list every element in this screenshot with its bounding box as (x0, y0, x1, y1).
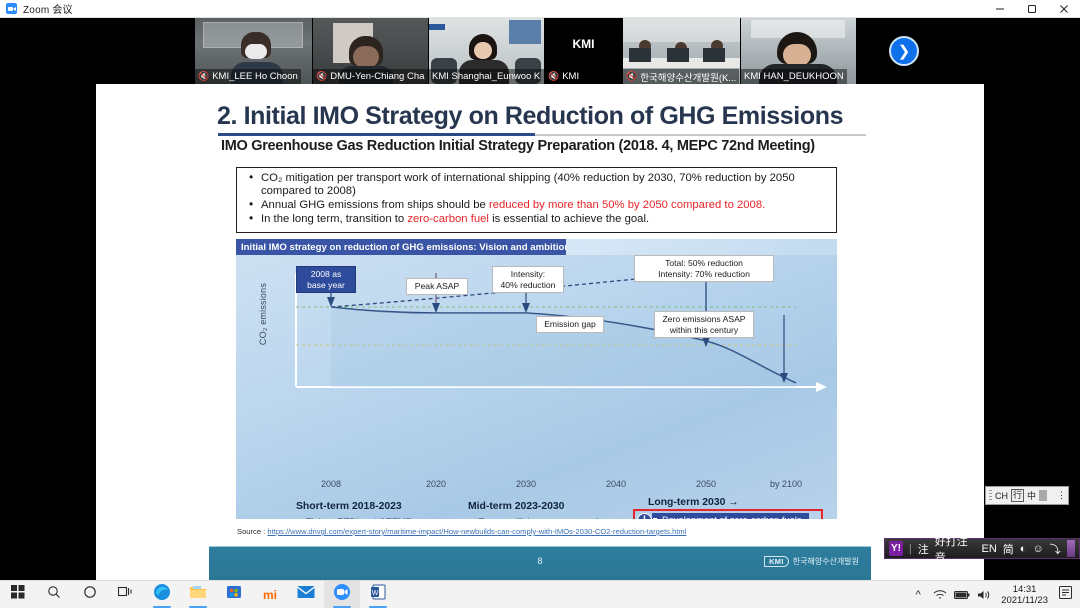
zoom-button[interactable] (324, 581, 360, 608)
wifi-icon[interactable] (929, 581, 951, 608)
participant-thumbnail[interactable]: KMI 🔇 KMI (545, 18, 622, 84)
edge-button[interactable] (144, 581, 180, 608)
mail-icon (297, 585, 315, 604)
window-title: Zoom 会议 (23, 1, 73, 16)
callout-peak-asap: Peak ASAP (406, 278, 468, 295)
participant-name-bar: 🔇 DMU-Yen-Chiang Cha... (313, 69, 428, 84)
participant-name-bar: KMI Shanghai_Eunwoo Kim (429, 69, 544, 84)
diagram-header: Initial IMO strategy on reduction of GHG… (236, 239, 566, 255)
bullet-text: is essential to achieve the goal. (489, 213, 649, 225)
ime-drag-handle[interactable] (989, 490, 992, 501)
x-tick-label: 2030 (516, 479, 536, 489)
title-divider-accent (218, 133, 535, 136)
edge-icon (153, 583, 171, 606)
zoom-icon (333, 583, 351, 606)
zoom-camera-icon (6, 3, 17, 14)
word-icon: W (370, 584, 386, 605)
yahoo-ime-toolbar[interactable]: Y! | 注 好打注音 EN 简 ◐ ☺ ⤵ (884, 538, 1080, 559)
column-item-highlighted: Development of zero-carbon fuels (652, 513, 809, 519)
file-explorer-button[interactable] (180, 581, 216, 608)
yahoo-logo-icon[interactable]: Y! (889, 541, 903, 556)
ghg-strategy-diagram: Initial IMO strategy on reduction of GHG… (236, 239, 837, 519)
notification-icon (1059, 586, 1072, 604)
mi-app-button[interactable]: mi (252, 581, 288, 608)
participant-name: KMI Shanghai_Eunwoo Kim (432, 71, 541, 82)
participant-thumbnail[interactable]: KMI HAN_DEUKHOON (741, 18, 856, 84)
ime-more-button[interactable]: ⋮ (1057, 490, 1065, 501)
participant-thumbnail[interactable]: 🔇 DMU-Yen-Chiang Cha... (313, 18, 428, 84)
item-text: Energy-efficiency measures for new and e… (478, 517, 641, 519)
ime-english-toggle[interactable]: EN (982, 543, 997, 555)
word-button[interactable]: W (360, 581, 396, 608)
mail-button[interactable] (288, 581, 324, 608)
ime-expand-icon[interactable]: ⤵ (1050, 541, 1061, 557)
column-heading: Short-term 2018-2023 (296, 501, 466, 513)
next-participants-button[interactable]: ❯ (889, 36, 919, 66)
callout-line: Total: 50% reduction Intensity: 70% redu… (658, 258, 750, 279)
svg-text:W: W (372, 590, 379, 597)
chevron-right-icon: ❯ (898, 42, 911, 60)
chart-x-tick-labels: 2008 2020 2030 2040 2050 by 2100 (236, 479, 837, 493)
x-axis-arrow (816, 382, 827, 392)
callout-intensity: Intensity: 40% reduction (492, 266, 564, 293)
ime-resize-handle[interactable] (1067, 540, 1075, 557)
bullet-text-emphasis: zero-carbon fuel (407, 213, 489, 225)
start-button[interactable] (0, 581, 36, 608)
column-heading: Long-term 2030 → (648, 497, 826, 509)
muted-mic-icon: 🔇 (548, 72, 559, 81)
x-tick-label: 2040 (606, 479, 626, 489)
windows-taskbar: mi W ^ 14:31 2021/11/23 (0, 580, 1080, 608)
callout-line: 2008 as base year (307, 269, 345, 290)
ime-panel-icon[interactable] (1039, 490, 1047, 501)
clock-date: 2021/11/23 (1001, 595, 1048, 606)
callout-base-year: 2008 as base year (296, 266, 356, 293)
windows-icon (11, 585, 25, 604)
muted-mic-icon: 🔇 (316, 72, 327, 81)
taskbar-clock[interactable]: 14:31 2021/11/23 (995, 584, 1054, 606)
ime-status-toolbar[interactable]: CH 行 中 ⋮ (985, 486, 1069, 505)
minimize-button[interactable] (984, 0, 1016, 18)
ime-language-indicator[interactable]: CH (995, 491, 1008, 501)
cortana-button[interactable] (72, 581, 108, 608)
x-tick-label: by 2100 (770, 479, 802, 489)
source-link[interactable]: https://www.dnvgl.com/expert-story/marit… (267, 527, 686, 536)
slide-footer: 8 KMI 한국해양수산개발원 (209, 546, 871, 580)
presentation-slide: 2. Initial IMO Strategy on Reduction of … (209, 84, 871, 580)
bullet-text-emphasis: reduced by more than 50% by 2050 compare… (489, 199, 765, 211)
callout-emission-gap: Emission gap (536, 316, 604, 333)
kmi-logo: KMI 한국해양수산개발원 (764, 556, 859, 567)
kmi-logo-mark: KMI (764, 556, 789, 567)
kmi-org-name: 한국해양수산개발원 (793, 556, 859, 567)
mid-term-column: Mid-term 2023-2030 Energy-efficiency mea… (468, 501, 643, 519)
participant-name: KMI (562, 71, 579, 82)
key-points-box: CO₂ mitigation per transport work of int… (236, 167, 837, 233)
ime-input-mode[interactable]: 注 (918, 541, 929, 557)
task-view-icon (118, 585, 134, 604)
clock-time: 14:31 (1001, 584, 1048, 595)
item-text: Development of zero-carbon fuels (662, 515, 802, 519)
source-line: Source : https://www.dnvgl.com/expert-st… (237, 527, 686, 536)
participant-thumbnail[interactable]: 🔇 KMI_LEE Ho Choon (195, 18, 312, 84)
column-item: Tighter EEDI and SEEMP (296, 516, 466, 519)
maximize-button[interactable] (1016, 0, 1048, 18)
x-tick-label: 2050 (696, 479, 716, 489)
participant-thumbnail[interactable]: KMI Shanghai_Eunwoo Kim (429, 18, 544, 84)
bullet-text: CO₂ mitigation per transport work of int… (261, 172, 795, 197)
participant-initials: KMI (545, 18, 622, 70)
task-view-button[interactable] (108, 581, 144, 608)
diagram-header-filler (566, 239, 837, 255)
close-button[interactable] (1048, 0, 1080, 18)
search-icon (47, 585, 61, 604)
chevron-up-icon[interactable]: ^ (907, 581, 929, 608)
callout-total-reduction: Total: 50% reduction Intensity: 70% redu… (634, 255, 774, 282)
notification-center-button[interactable] (1054, 581, 1076, 608)
participant-name-bar: 🔇 KMI_LEE Ho Choon (195, 69, 301, 84)
key-points-list: CO₂ mitigation per transport work of int… (245, 172, 830, 227)
volume-icon[interactable] (973, 581, 995, 608)
participant-name-bar: 🔇 한국해양수산개발원(K... (623, 69, 739, 84)
ime-halfwidth-icon[interactable]: ◐ (1020, 543, 1027, 555)
battery-icon[interactable] (951, 581, 973, 608)
slide-page-number: 8 (537, 556, 542, 566)
bullet-text: Annual GHG emissions from ships should b… (261, 199, 489, 211)
participant-name-bar: 🔇 KMI (545, 69, 582, 84)
window-controls (984, 0, 1080, 18)
ime-simplified-toggle[interactable]: 简 (1003, 541, 1014, 557)
ime-scheme-name[interactable]: 好打注音 (935, 533, 976, 565)
participant-name: KMI HAN_DEUKHOON (744, 71, 844, 82)
slide-subtitle: IMO Greenhouse Gas Reduction Initial Str… (221, 138, 861, 154)
callout-line: Emission gap (544, 319, 596, 329)
ime-settings-icon[interactable]: ☺ (1032, 543, 1043, 555)
ime-charset-button[interactable]: 中 (1027, 489, 1036, 502)
long-term-column: Long-term 2030 → ! Development of zero-c… (648, 497, 826, 519)
callout-line: Peak ASAP (415, 281, 459, 291)
item-text: Tighter EEDI and SEEMP (306, 517, 412, 519)
callout-line: Zero emissions ASAP within this century (662, 314, 745, 335)
callout-zero-emissions: Zero emissions ASAP within this century (654, 311, 754, 338)
folder-icon (189, 584, 207, 605)
x-tick-label: 2020 (426, 479, 446, 489)
column-item: Energy-efficiency measures for new and e… (468, 516, 643, 519)
column-heading: Mid-term 2023-2030 (468, 501, 643, 513)
leader-2008-arrow (327, 297, 335, 307)
leader-intensity-arrow (522, 303, 530, 313)
system-tray: ^ 14:31 2021/11/23 (907, 581, 1080, 608)
participant-name-bar: KMI HAN_DEUKHOON (741, 69, 847, 84)
list-item: Annual GHG emissions from ships should b… (245, 199, 830, 212)
slide-title: 2. Initial IMO Strategy on Reduction of … (217, 102, 867, 131)
list-item: CO₂ mitigation per transport work of int… (245, 172, 830, 199)
callout-line: Intensity: 40% reduction (501, 269, 556, 290)
muted-mic-icon: 🔇 (626, 72, 637, 81)
search-button[interactable] (36, 581, 72, 608)
zoom-window-titlebar: Zoom 会议 (0, 0, 1080, 18)
column-item-highlight-wrap: ! Development of zero-carbon fuels (648, 512, 826, 519)
participant-name: KMI_LEE Ho Choon (212, 71, 298, 82)
strip-left-filler (0, 18, 195, 84)
ime-separator: | (909, 543, 912, 555)
mi-icon: mi (263, 588, 277, 602)
list-item: In the long term, transition to zero-car… (245, 213, 830, 226)
store-icon (226, 584, 242, 605)
shared-content-area: 2. Initial IMO Strategy on Reduction of … (96, 84, 984, 580)
participant-name: DMU-Yen-Chiang Cha... (330, 71, 425, 82)
bullet-text: In the long term, transition to (261, 213, 407, 225)
participant-thumbnail[interactable]: 🔇 한국해양수산개발원(K... (623, 18, 740, 84)
leader-peak-arrow (432, 303, 440, 313)
short-term-column: Short-term 2018-2023 Tighter EEDI and SE… (296, 501, 466, 519)
x-tick-label: 2008 (321, 479, 341, 489)
ime-mode-button[interactable]: 行 (1011, 489, 1024, 502)
muted-mic-icon: 🔇 (198, 72, 209, 81)
circle-icon (83, 585, 97, 604)
microsoft-store-button[interactable] (216, 581, 252, 608)
source-label: Source : (237, 527, 267, 536)
shared-screen-stage: 2. Initial IMO Strategy on Reduction of … (0, 84, 1080, 580)
participant-name: 한국해양수산개발원(K... (640, 70, 736, 84)
